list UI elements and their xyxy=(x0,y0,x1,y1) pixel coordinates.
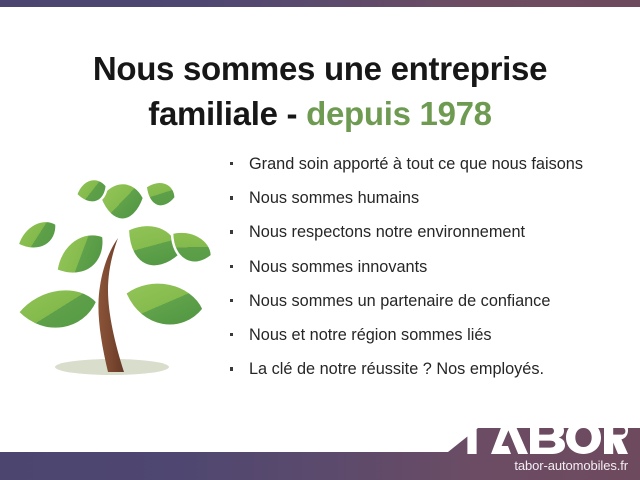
list-item: Nous sommes un partenaire de confiance xyxy=(228,287,632,321)
page-title-accent: depuis 1978 xyxy=(306,95,492,132)
list-item: Grand soin apporté à tout ce que nous fa… xyxy=(228,150,632,184)
footer-shape xyxy=(0,428,640,480)
list-item-label: Nous sommes un partenaire de confiance xyxy=(249,292,550,310)
bullet-dot-icon xyxy=(230,265,233,268)
tree-leaf-far-left xyxy=(13,215,63,258)
page-title-line-1: Nous sommes une entreprise xyxy=(93,50,547,87)
bullet-dot-icon xyxy=(230,162,233,165)
tree-leaf-top-right xyxy=(141,177,180,211)
slide-canvas: Nous sommes une entreprise familiale - d… xyxy=(0,0,640,480)
list-item: Nous respectons notre environnement xyxy=(228,218,632,252)
top-accent-bar xyxy=(0,0,640,7)
bullet-dot-icon xyxy=(230,333,233,336)
tabor-wordmark-icon xyxy=(456,421,628,454)
list-item-label: Grand soin apporté à tout ce que nous fa… xyxy=(249,155,583,173)
list-item-label: Nous et notre région sommes liés xyxy=(249,326,492,344)
tree-leaf-lower-left xyxy=(16,286,100,333)
list-item: Nous sommes humains xyxy=(228,184,632,218)
tree-trunk xyxy=(98,238,124,372)
list-item-label: La clé de notre réussite ? Nos employés. xyxy=(249,360,544,378)
bullet-dot-icon xyxy=(230,299,233,302)
list-item-label: Nous sommes innovants xyxy=(249,258,427,276)
list-item: La clé de notre réussite ? Nos employés. xyxy=(228,355,632,389)
brand-logo: tabor-automobiles.fr xyxy=(456,421,628,472)
page-title-separator: - xyxy=(287,95,298,132)
tree-leaf-lower-right xyxy=(121,276,207,331)
value-bullet-list: Grand soin apporté à tout ce que nous fa… xyxy=(228,150,632,389)
tree-illustration xyxy=(8,148,220,398)
bullet-dot-icon xyxy=(230,367,233,370)
brand-tagline: tabor-automobiles.fr xyxy=(456,459,628,472)
list-item-label: Nous sommes humains xyxy=(249,189,419,207)
page-title-prefix: familiale xyxy=(148,95,277,132)
list-item: Nous et notre région sommes liés xyxy=(228,321,632,355)
page-title-line-2: familiale - depuis 1978 xyxy=(0,93,640,136)
page-title: Nous sommes une entreprise familiale - d… xyxy=(0,48,640,136)
list-item: Nous sommes innovants xyxy=(228,253,632,287)
bullet-dot-icon xyxy=(230,196,233,199)
list-item-label: Nous respectons notre environnement xyxy=(249,223,525,241)
bullet-dot-icon xyxy=(230,230,233,233)
footer-band: tabor-automobiles.fr xyxy=(0,400,640,480)
